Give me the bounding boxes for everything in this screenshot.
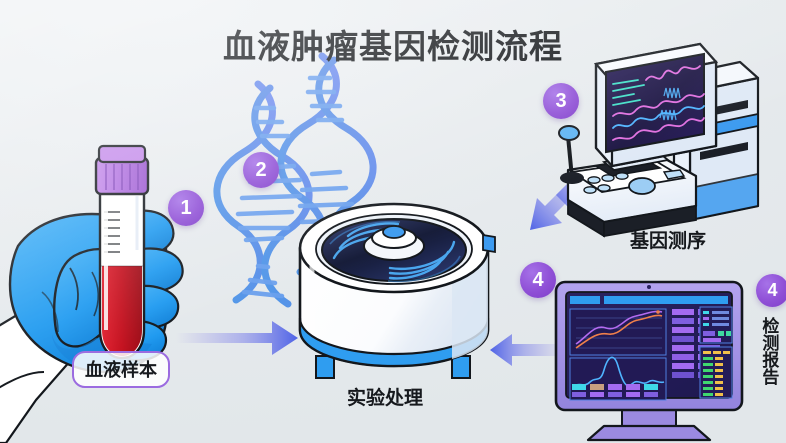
test-report-label: 检测报告	[760, 317, 777, 385]
step-badge-4: 4	[520, 262, 556, 298]
report-right-panels	[700, 307, 732, 398]
step-badge-3: 3	[543, 83, 579, 119]
test-tube-icon	[96, 146, 148, 358]
step-badge-2: 2	[243, 152, 279, 188]
sequencer-machine-icon	[559, 44, 758, 236]
lab-processing-label: 实验处理	[347, 383, 423, 410]
centrifuge-icon	[300, 204, 495, 378]
blood-sample-label: 血液样本	[72, 351, 170, 388]
arrow-right-icon	[176, 321, 298, 355]
step-badge-1: 1	[168, 190, 204, 226]
gene-sequencing-label: 基因测序	[630, 226, 706, 253]
infographic-canvas: 血液肿瘤基因检测流程 1 2 3 4 4 血液样本 实验处理 基因测序 检测报告	[0, 0, 786, 443]
gloved-hand-icon	[0, 211, 183, 443]
step-badge-4-report: 4	[756, 274, 786, 307]
arrow-left-icon	[490, 334, 566, 366]
page-title: 血液肿瘤基因检测流程	[0, 20, 786, 68]
